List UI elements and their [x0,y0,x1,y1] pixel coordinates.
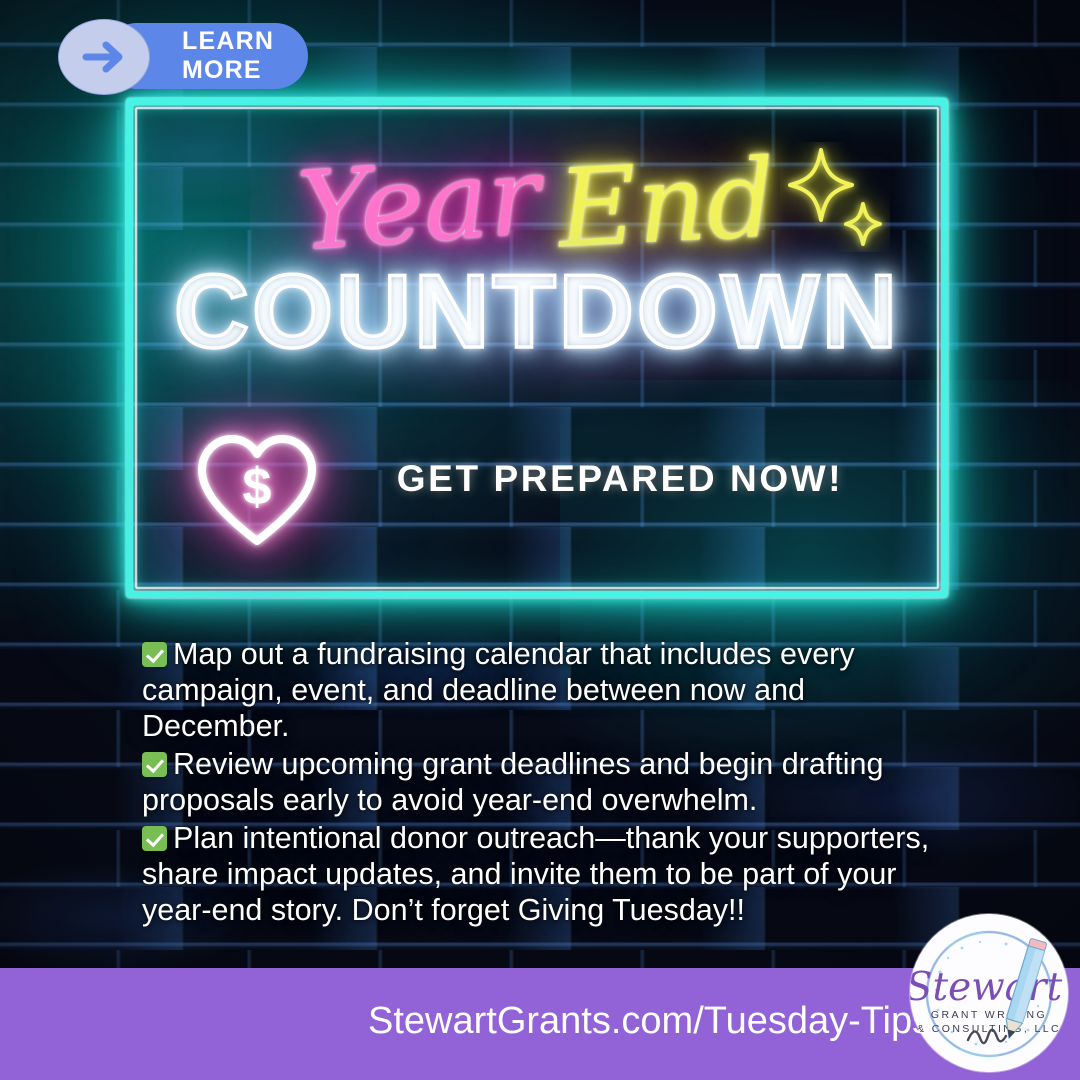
sparkle-star-icon [780,142,890,252]
headline-countdown: COUNTDOWN [126,260,948,364]
headline-script-end: End [555,145,778,264]
logo-tagline-1: GRANT WRITING [931,1009,1047,1021]
check-mark-icon [142,752,167,777]
body-copy-item: Review upcoming grant deadlines and begi… [142,746,952,818]
svg-text:$: $ [243,458,272,516]
footer-url[interactable]: StewartGrants.com/Tuesday-Tips [368,1000,931,1043]
body-copy-item: Map out a fundraising calendar that incl… [142,636,952,744]
body-copy-item: Plan intentional donor outreach—thank yo… [142,820,952,928]
check-mark-icon [142,826,167,851]
arrow-right-icon[interactable] [58,19,150,95]
brand-logo: Stewart GRANT WRITING & CONSULTING, LLC [910,914,1068,1072]
logo-brand-text: Stewart [910,965,1063,1010]
body-copy-text: Review upcoming grant deadlines and begi… [142,747,883,817]
cta-headline: GET PREPARED NOW! [360,458,880,500]
headline-script-year: Year [295,143,544,268]
body-copy-list: Map out a fundraising calendar that incl… [142,636,952,930]
body-copy-text: Plan intentional donor outreach—thank yo… [142,821,929,927]
heart-dollar-icon: $ [192,428,322,550]
learn-more-label: LEARN MORE [182,27,274,85]
check-mark-icon [142,642,167,667]
poster-canvas: Year End COUNTDOWN $ GET PREPARED NOW! M… [0,0,1080,1080]
body-copy-text: Map out a fundraising calendar that incl… [142,637,855,743]
